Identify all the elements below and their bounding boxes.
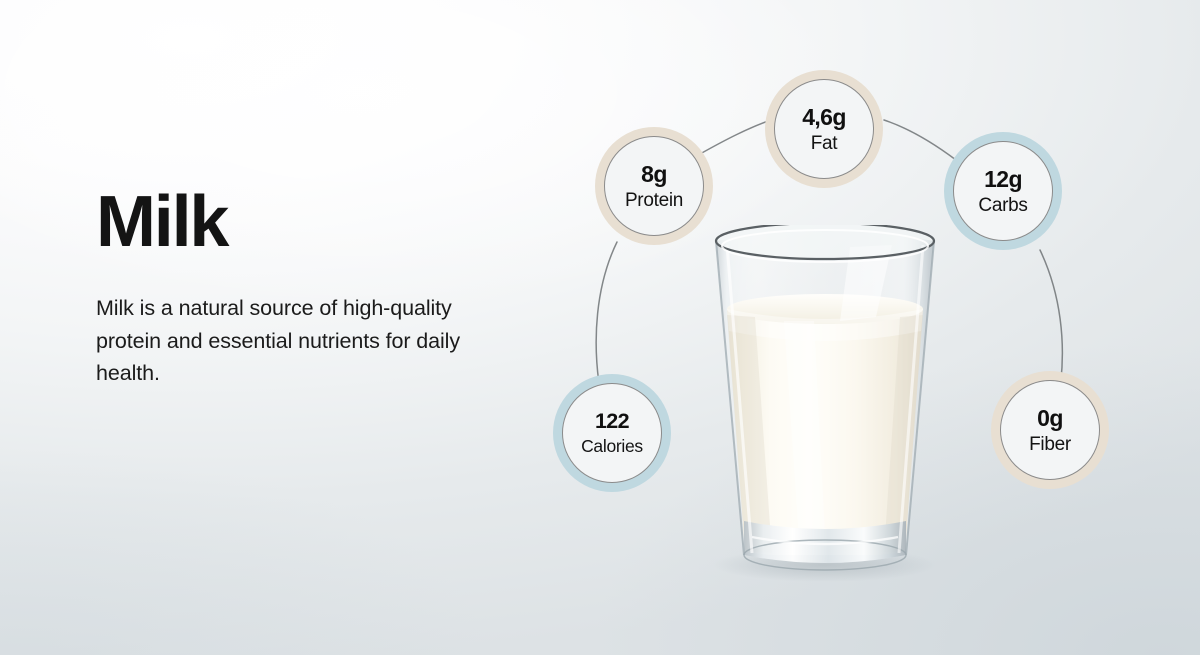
- nutrient-text-fat: 4,6g Fat: [802, 106, 846, 153]
- nutrient-text-fiber: 0g Fiber: [1029, 407, 1071, 454]
- nutrient-node-calories[interactable]: 122 Calories: [562, 383, 662, 483]
- connector-arcs: [0, 0, 1200, 655]
- connector-carbs-fiber: [1040, 250, 1062, 388]
- nutrient-text-protein: 8g Protein: [625, 163, 683, 210]
- nutrient-value-carbs: 12g: [978, 168, 1027, 191]
- nutrient-node-fat[interactable]: 4,6g Fat: [774, 79, 874, 179]
- connector-fat-carbs: [884, 120, 956, 160]
- nutrient-label-carbs: Carbs: [978, 196, 1027, 215]
- nutrient-node-protein[interactable]: 8g Protein: [604, 136, 704, 236]
- connector-calories-protein: [596, 242, 617, 390]
- connector-protein-fat: [700, 120, 771, 154]
- milk-fill-group: [727, 294, 923, 559]
- nutrient-label-calories: Calories: [581, 438, 643, 456]
- nutrient-label-fiber: Fiber: [1029, 435, 1071, 454]
- nutrient-value-fat: 4,6g: [802, 106, 846, 129]
- nutrient-label-protein: Protein: [625, 191, 683, 210]
- nutrient-text-calories: 122 Calories: [581, 411, 643, 455]
- nutrient-text-carbs: 12g Carbs: [978, 168, 1027, 215]
- glass-of-milk-illustration: [700, 225, 950, 585]
- nutrient-node-fiber[interactable]: 0g Fiber: [1000, 380, 1100, 480]
- nutrient-value-fiber: 0g: [1029, 407, 1071, 430]
- nutrient-value-calories: 122: [581, 411, 643, 433]
- nutrient-label-fat: Fat: [802, 134, 846, 153]
- nutrient-node-carbs[interactable]: 12g Carbs: [953, 141, 1053, 241]
- glass-of-milk-svg: [700, 225, 950, 585]
- nutrient-value-protein: 8g: [625, 163, 683, 186]
